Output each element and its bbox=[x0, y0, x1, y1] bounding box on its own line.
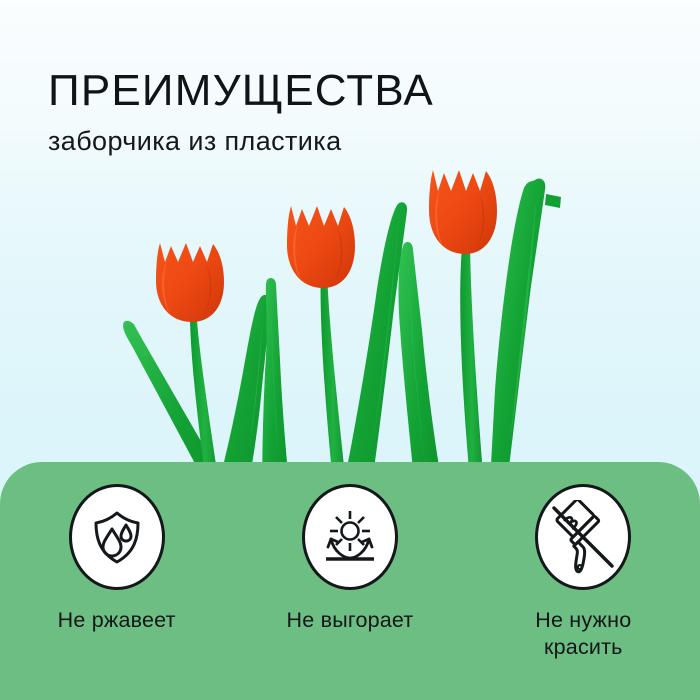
sun-reflect-icon bbox=[319, 506, 381, 568]
features-list: Не ржавеет bbox=[0, 462, 700, 700]
petal-group bbox=[429, 170, 497, 254]
flower-head bbox=[429, 170, 497, 254]
feature-item-no-paint[interactable]: Не нужно красить bbox=[483, 484, 683, 661]
tulips-svg bbox=[0, 150, 700, 510]
feature-label: Не выгорает bbox=[287, 607, 414, 634]
features-panel: Не ржавеет bbox=[0, 462, 700, 700]
page-title: ПРЕИМУЩЕСТВА bbox=[48, 66, 668, 116]
feature-item-no-fade[interactable]: Не выгорает bbox=[250, 484, 450, 634]
product-illustration bbox=[0, 150, 700, 510]
feature-badge bbox=[535, 484, 631, 590]
no-paint-brush-icon bbox=[546, 500, 620, 574]
petal-group bbox=[156, 243, 224, 322]
promo-poster: ПРЕИМУЩЕСТВА заборчика из пластика bbox=[0, 0, 700, 700]
heading-block: ПРЕИМУЩЕСТВА заборчика из пластика bbox=[48, 66, 668, 157]
tulip-3 bbox=[399, 170, 561, 510]
leaf bbox=[489, 178, 545, 502]
petal-group bbox=[287, 206, 355, 288]
feature-badge bbox=[302, 484, 398, 590]
feature-label: Не ржавеет bbox=[58, 607, 176, 634]
feature-item-no-rust[interactable]: Не ржавеет bbox=[17, 484, 217, 634]
leaf-tip bbox=[545, 194, 561, 208]
feature-badge bbox=[69, 484, 165, 590]
flower-head bbox=[156, 243, 224, 322]
feature-label: Не нужно красить bbox=[535, 607, 631, 661]
flower-head bbox=[287, 206, 355, 288]
shield-droplet-icon bbox=[87, 507, 147, 567]
